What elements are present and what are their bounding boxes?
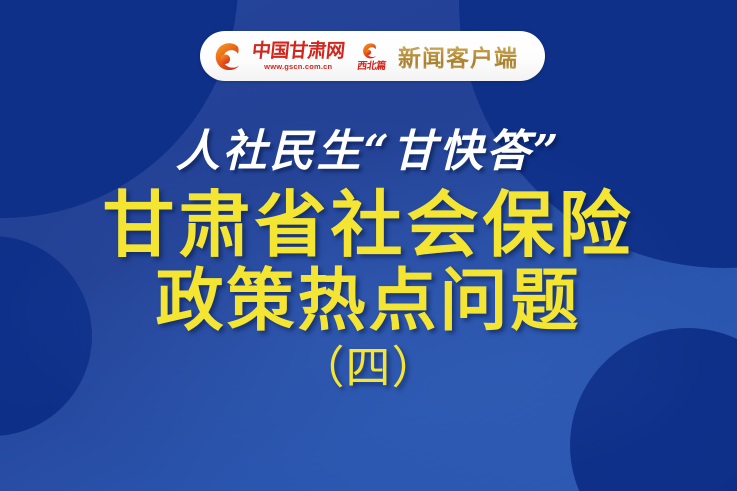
poster-title-line-3: （四）	[0, 343, 737, 393]
client-app-name: 新闻客户端	[398, 39, 518, 73]
poster-subtitle: 人社民生“甘快答”	[0, 126, 737, 178]
headline-block: 人社民生“甘快答” 甘肃省社会保险 政策热点问题 （四）	[0, 126, 737, 392]
poster-canvas: 中国甘肃网 www.gscn.com.cn 西北篇	[0, 0, 737, 491]
gscn-brand-url: www.gscn.com.cn	[264, 63, 332, 71]
xibei-brand-name: 西北篇	[356, 62, 386, 72]
logo-bar: 中国甘肃网 www.gscn.com.cn 西北篇	[200, 31, 545, 81]
gscn-brand-name: 中国甘肃网	[251, 42, 346, 61]
poster-title-line-1: 甘肃省社会保险	[0, 184, 737, 266]
poster-title-line-2: 政策热点问题	[0, 264, 737, 341]
gscn-brand: 中国甘肃网 www.gscn.com.cn	[252, 42, 345, 71]
xibei-swirl-icon	[361, 41, 380, 60]
gscn-swirl-icon	[212, 39, 246, 73]
xibei-brand: 西北篇	[357, 41, 386, 72]
